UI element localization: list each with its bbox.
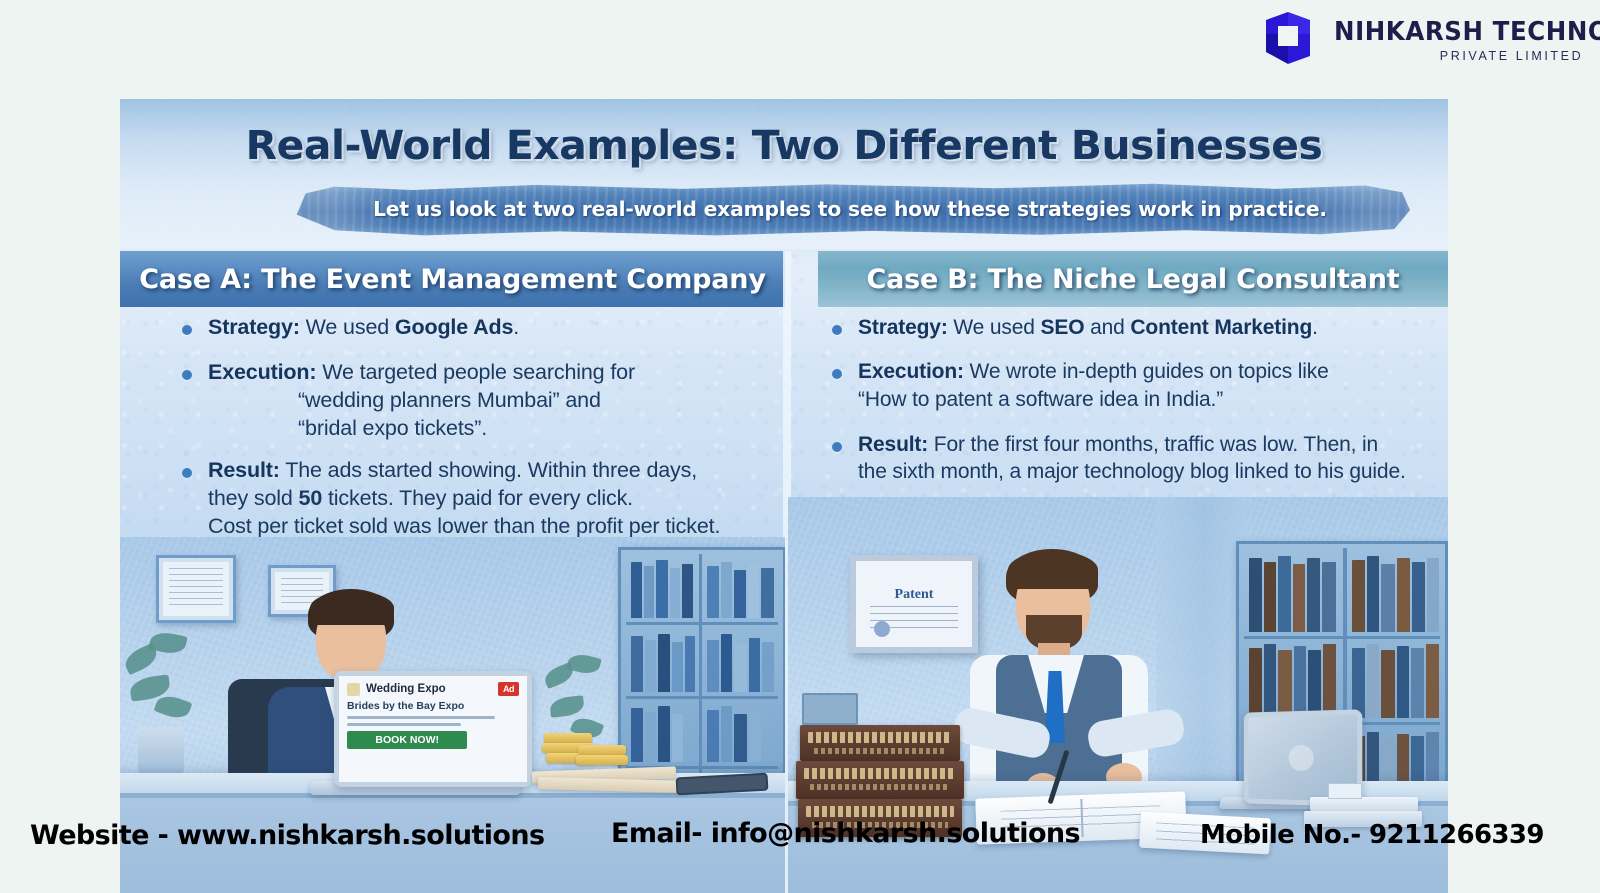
bullet-label: Execution:	[208, 360, 316, 384]
paper-stack-icon	[1310, 797, 1418, 811]
logo-company-name: NIHKARSH TECHNOLOGY	[1334, 20, 1600, 46]
list-item: Strategy: We used SEO and Content Market…	[832, 314, 1440, 341]
envelope-icon	[1328, 783, 1362, 799]
plant-pot-icon	[138, 727, 184, 777]
bullet-inline-emphasis: 50	[299, 486, 323, 510]
laptop-display: Wedding Expo Ad Brides by the Bay Expo B…	[339, 676, 527, 782]
law-book-icon	[796, 761, 964, 799]
shelf-box-icon	[802, 693, 858, 725]
page-title: Real-World Examples: Two Different Busin…	[120, 123, 1448, 169]
ad-subheadline: Brides by the Bay Expo	[347, 700, 519, 712]
ad-headline: Wedding Expo	[366, 683, 446, 695]
bullet-text: Strategy: We used SEO and Content Market…	[832, 314, 1440, 341]
bullet-tail: .	[513, 315, 519, 339]
bullet-line: they sold 50 tickets. They paid for ever…	[182, 485, 802, 513]
framed-certificate: Patent	[850, 555, 978, 653]
bullet-text: Result: For the first four months, traff…	[832, 431, 1440, 458]
bullet-text: Execution: We targeted people searching …	[182, 359, 802, 387]
bullet-label: Result:	[858, 433, 928, 456]
bullet-dot-icon	[182, 325, 192, 335]
bullet-emphasis: SEO	[1041, 316, 1085, 339]
bullet-label: Result:	[208, 458, 280, 482]
bullet-body: We used	[300, 315, 395, 339]
laptop-logo-icon	[1288, 745, 1313, 771]
company-logo: NIHKARSH TECHNOLOGY PRIVATE LIMITED	[1258, 4, 1578, 78]
bullet-mid: and	[1084, 316, 1130, 339]
footer-email: Email- info@nishkarsh.solutions	[611, 818, 1080, 849]
law-book-icon	[800, 725, 960, 761]
logo-company-subtitle: PRIVATE LIMITED	[1334, 50, 1600, 63]
logo-mark-icon	[1258, 8, 1324, 74]
bookshelf-icon	[618, 547, 785, 797]
bullet-dot-icon	[832, 325, 842, 335]
ad-description-line	[347, 716, 495, 719]
footer-mobile: Mobile No.- 9211266339	[1200, 820, 1544, 850]
slide-canvas: Real-World Examples: Two Different Busin…	[120, 99, 1448, 893]
bullet-dot-icon	[182, 370, 192, 380]
slide-header: Real-World Examples: Two Different Busin…	[120, 99, 1448, 249]
site-favicon-icon	[347, 683, 360, 696]
ad-badge: Ad	[498, 682, 519, 696]
bullet-dot-icon	[832, 442, 842, 452]
case-a-header-bar: Case A: The Event Management Company	[120, 251, 785, 307]
coin-stack-icon	[544, 733, 592, 743]
certificate-title: Patent	[856, 587, 972, 603]
bullet-tail: .	[1312, 316, 1318, 339]
bullet-line: “How to patent a software idea in India.…	[832, 386, 1440, 413]
coin-stack-icon	[578, 745, 626, 755]
wall-frame-icon	[156, 555, 236, 623]
bullet-label: Execution:	[858, 360, 964, 383]
bullet-body: We used	[948, 316, 1041, 339]
subtitle-band: Let us look at two real-world examples t…	[290, 181, 1410, 237]
case-b-header-label: Case B: The Niche Legal Consultant	[818, 264, 1448, 295]
bullet-line: “bridal expo tickets”.	[182, 415, 802, 443]
footer-website: Website - www.nishkarsh.solutions	[30, 820, 544, 851]
list-item: Result: For the first four months, traff…	[832, 431, 1440, 486]
list-item: Execution: We wrote in-depth guides on t…	[832, 358, 1440, 413]
bullet-emphasis-2: Content Marketing	[1130, 316, 1312, 339]
case-b-header-bar: Case B: The Niche Legal Consultant	[818, 251, 1448, 307]
book-now-button[interactable]: BOOK NOW!	[347, 731, 467, 749]
bullet-body: We wrote in-depth guides on topics like	[964, 360, 1329, 383]
bullet-body: For the first four months, traffic was l…	[928, 433, 1378, 456]
case-a-header-label: Case A: The Event Management Company	[120, 264, 785, 295]
bullet-emphasis: Google Ads	[395, 315, 513, 339]
bullet-line: “wedding planners Mumbai” and	[182, 387, 802, 415]
bullet-label: Strategy:	[208, 315, 300, 339]
laptop-screen-bezel: Wedding Expo Ad Brides by the Bay Expo B…	[334, 671, 532, 787]
bullet-body: The ads started showing. Within three da…	[280, 458, 697, 482]
bullet-dot-icon	[182, 468, 192, 478]
bullet-line: the sixth month, a major technology blog…	[832, 458, 1440, 485]
bullet-text: Execution: We wrote in-depth guides on t…	[832, 358, 1440, 385]
coin-stack-icon	[576, 755, 628, 765]
page-subtitle: Let us look at two real-world examples t…	[296, 181, 1405, 237]
list-item: Execution: We targeted people searching …	[182, 359, 802, 443]
bullet-body: We targeted people searching for	[316, 360, 635, 384]
bullet-text: Strategy: We used Google Ads.	[182, 314, 802, 342]
list-item: Strategy: We used Google Ads.	[182, 314, 802, 342]
bullet-text: Result: The ads started showing. Within …	[182, 457, 802, 485]
bullet-label: Strategy:	[858, 316, 948, 339]
case-b-content: Strategy: We used SEO and Content Market…	[832, 314, 1440, 497]
ad-description-line	[347, 723, 461, 726]
